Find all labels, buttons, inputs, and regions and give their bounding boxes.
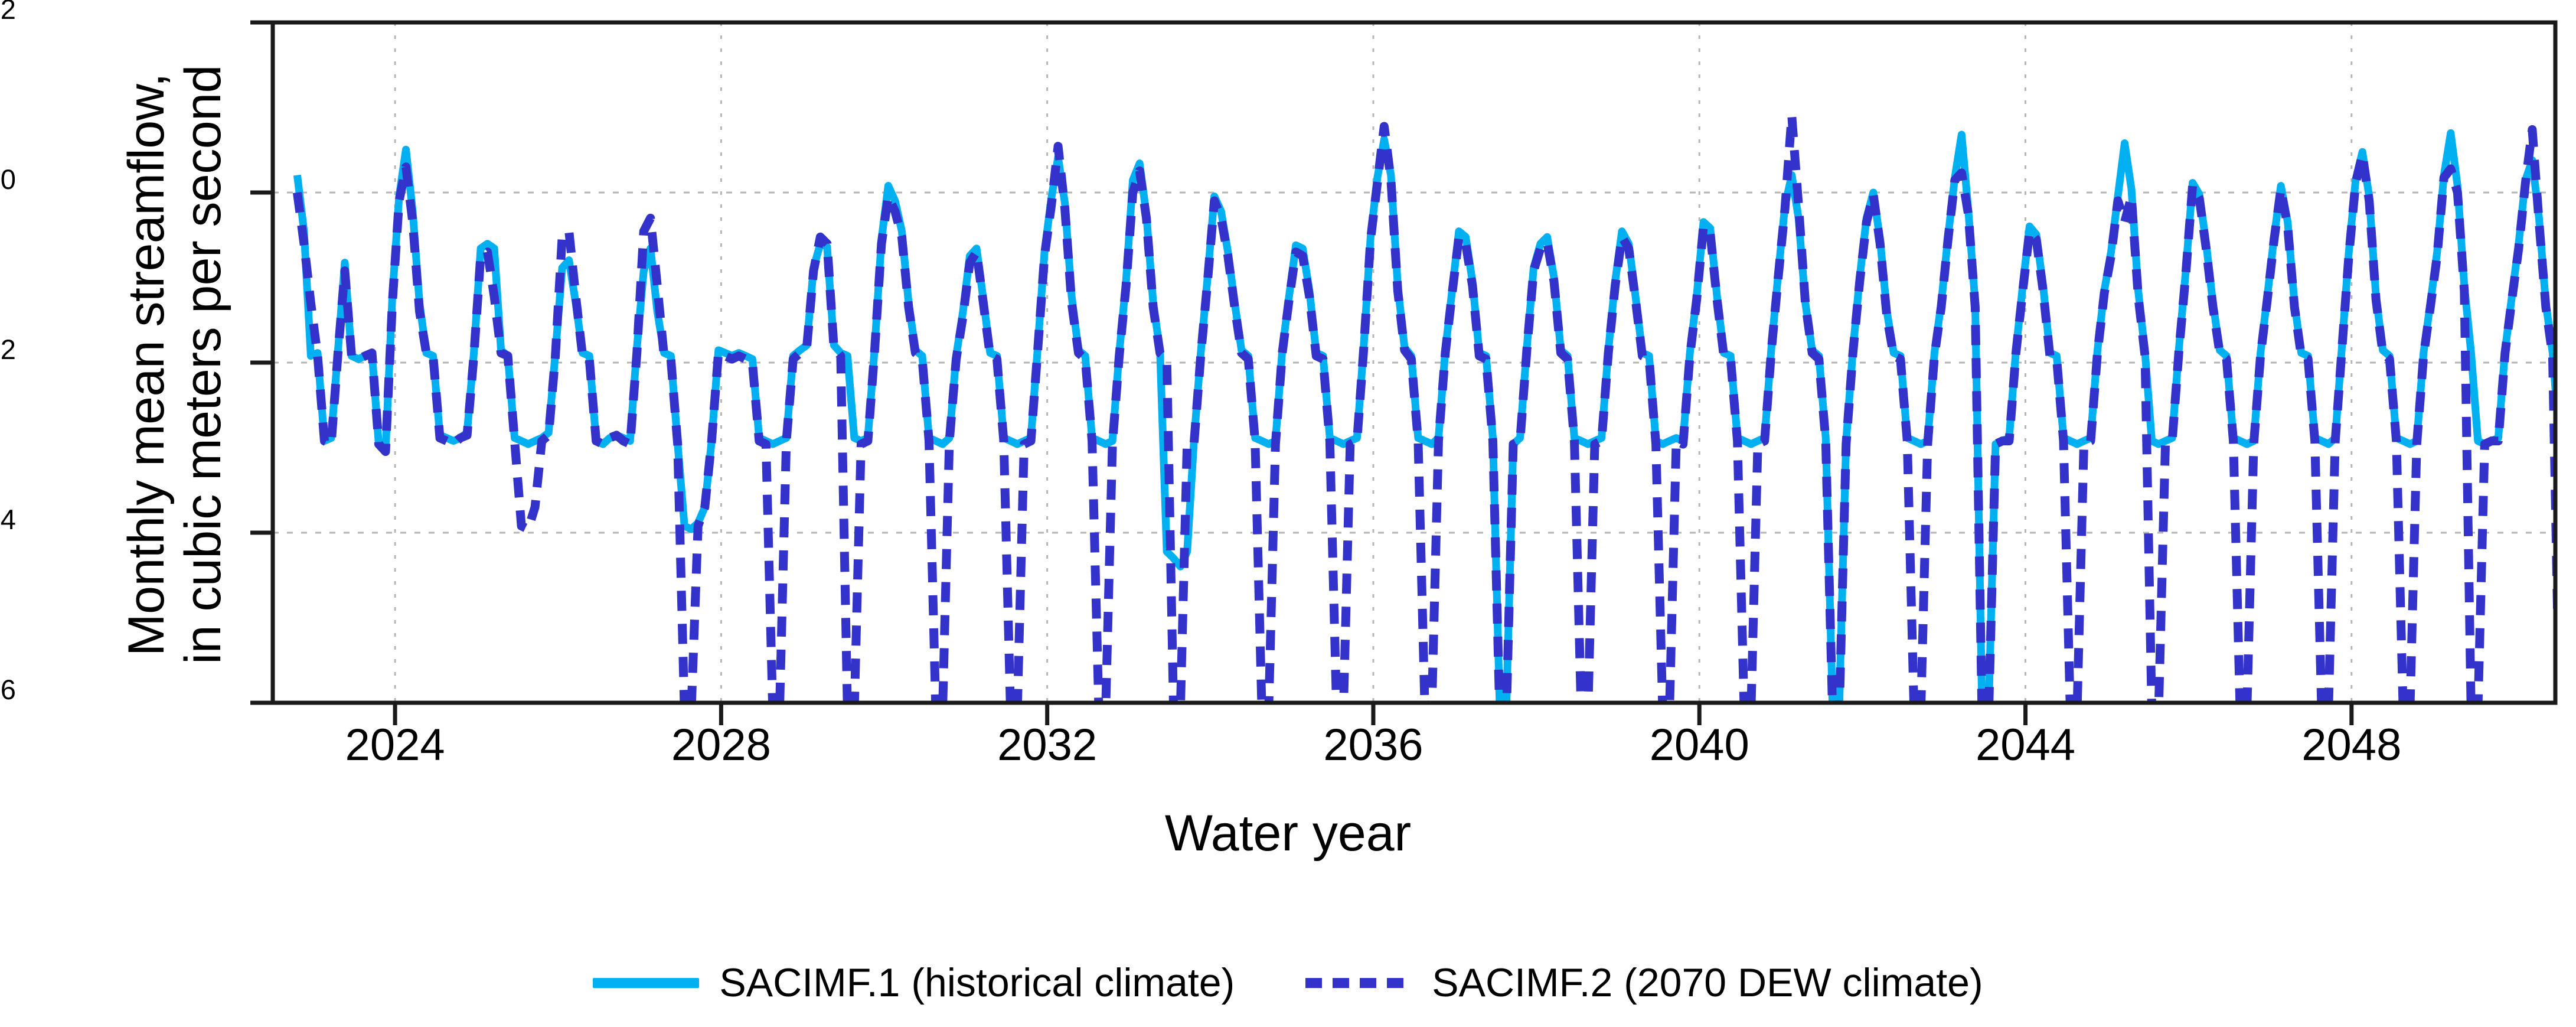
y-tick-label-1e-6: 10−6 bbox=[0, 673, 15, 725]
y-tick-exponent-m6: −6 bbox=[0, 674, 15, 705]
gridlines-group bbox=[273, 22, 2555, 703]
x-tick-label-2024: 2024 bbox=[306, 719, 484, 771]
y-tick-label-1e0: 100 bbox=[0, 163, 15, 215]
y-tick-exponent-0: 0 bbox=[1, 164, 15, 195]
legend-swatch-solid-icon bbox=[593, 978, 699, 988]
series-line-1 bbox=[297, 133, 2576, 705]
x-tick-label-2048: 2048 bbox=[2263, 719, 2440, 771]
y-axis-title-line2: in cubic meters per second bbox=[175, 65, 231, 664]
legend-label-sacimf2: SACIMF.2 (2070 DEW climate) bbox=[1432, 960, 1983, 1006]
y-tick-exponent-2: 2 bbox=[1, 0, 15, 25]
x-tick-label-2028: 2028 bbox=[632, 719, 809, 771]
series-line-2 bbox=[297, 116, 2576, 711]
y-tick-label-1e-2: 10−2 bbox=[0, 333, 15, 385]
legend-entry-sacimf1[interactable]: SACIMF.1 (historical climate) bbox=[593, 960, 1235, 1006]
x-tick-label-2032: 2032 bbox=[959, 719, 1136, 771]
y-tick-exponent-m4: −4 bbox=[0, 504, 15, 535]
y-axis-title-container: Monthly mean streamflow,in cubic meters … bbox=[0, 0, 136, 732]
y-axis-title-line1: Monthly mean streamflow, bbox=[118, 73, 175, 656]
y-tick-label-1e-4: 10−4 bbox=[0, 503, 15, 555]
plot-area bbox=[0, 0, 2576, 1027]
legend-entry-sacimf2[interactable]: SACIMF.2 (2070 DEW climate) bbox=[1305, 960, 1983, 1006]
axes-group bbox=[273, 22, 2555, 703]
y-tick-label-1e2: 102 bbox=[0, 0, 15, 45]
streamflow-chart-figure: Monthly mean streamflow,in cubic meters … bbox=[0, 0, 2576, 1027]
legend-label-sacimf1: SACIMF.1 (historical climate) bbox=[719, 960, 1235, 1006]
y-tick-exponent-m2: −2 bbox=[0, 334, 15, 365]
ticks-group bbox=[250, 22, 2352, 725]
legend-swatch-dashed-icon bbox=[1305, 978, 1412, 988]
x-axis-title: Water year bbox=[0, 804, 2576, 863]
series-group bbox=[297, 116, 2576, 711]
x-tick-label-2044: 2044 bbox=[1937, 719, 2114, 771]
y-axis-title: Monthly mean streamflow,in cubic meters … bbox=[118, 0, 232, 729]
x-tick-label-2036: 2036 bbox=[1285, 719, 1462, 771]
x-tick-label-2040: 2040 bbox=[1611, 719, 1788, 771]
chart-legend: SACIMF.1 (historical climate) SACIMF.2 (… bbox=[0, 947, 2576, 1018]
